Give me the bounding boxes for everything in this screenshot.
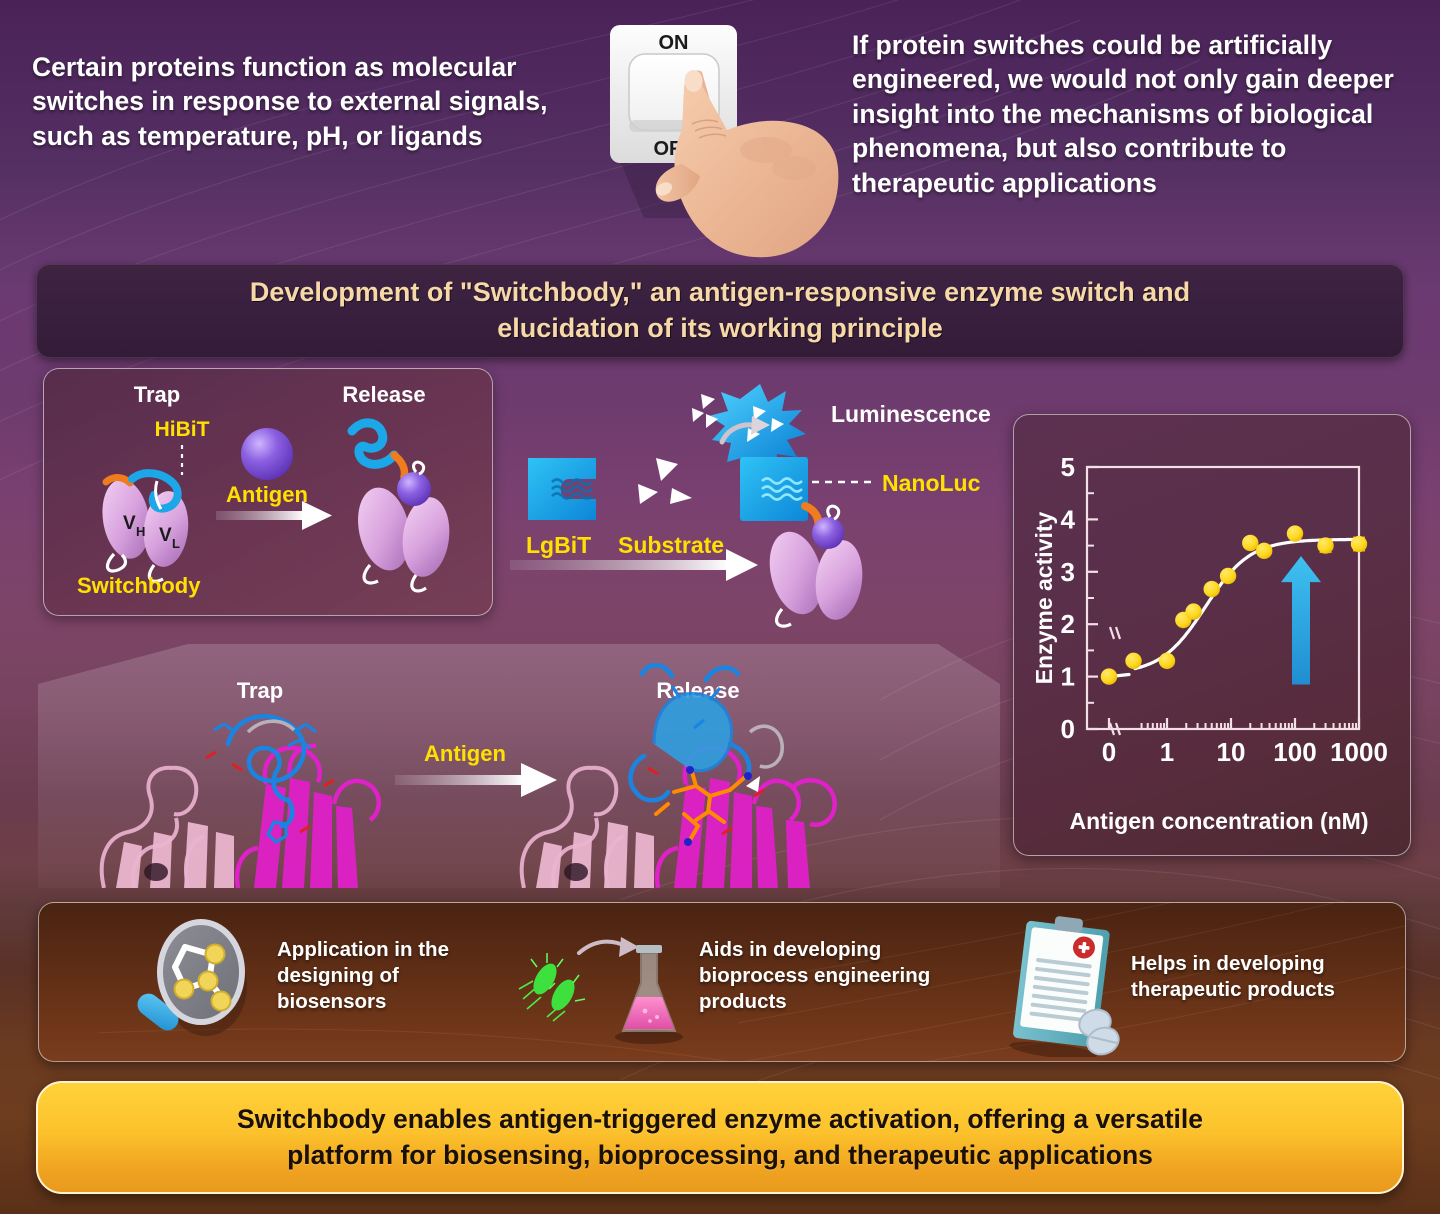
chart-ytick: 1	[1061, 662, 1075, 692]
chart-data-point	[1351, 536, 1367, 552]
mechanism-panel: Trap Release HiBiT V H V L	[43, 368, 493, 616]
chart-xtick: 10	[1217, 737, 1246, 767]
substrate-triangles-icon	[638, 458, 692, 504]
chart-data-point	[1204, 581, 1220, 597]
title-line-1: Development of "Switchbody," an antigen-…	[250, 277, 1190, 307]
svg-text:L: L	[172, 536, 180, 551]
chart-ylabel: Enzyme activity	[1031, 512, 1057, 685]
bacteria-flask-icon	[517, 925, 697, 1045]
luminescence-label: Luminescence	[831, 401, 991, 427]
mech-release-label: Release	[342, 382, 425, 407]
graphical-abstract: Certain proteins function as molecular s…	[0, 0, 1440, 1214]
chart-ytick: 2	[1061, 609, 1075, 639]
chart-ytick: 0	[1061, 714, 1075, 744]
chart-xtick: 0	[1102, 737, 1116, 767]
svg-text:H: H	[136, 524, 145, 539]
lgbit-label: LgBiT	[526, 532, 591, 558]
lgbit-icon	[528, 458, 596, 520]
application-text-2: Helps in developing therapeutic products	[1131, 951, 1381, 1003]
chart-data-point	[1220, 568, 1236, 584]
activation-arrow-icon	[1281, 556, 1321, 684]
mech-switchbody-label: Switchbody	[77, 573, 201, 598]
chart-data-point	[1185, 603, 1201, 619]
chart-data-point	[1317, 537, 1333, 553]
mech-trap-label: Trap	[134, 382, 180, 407]
flask-glyph	[615, 945, 683, 1044]
switchbody-release-cartoon	[351, 423, 454, 591]
structure-antigen-label: Antigen	[424, 741, 506, 766]
chart-data-point	[1256, 543, 1272, 559]
svg-text:V: V	[123, 513, 136, 534]
chart-ytick: 4	[1061, 504, 1076, 534]
chart-data-point	[1125, 653, 1141, 669]
chart-ytick: 3	[1061, 557, 1075, 587]
light-switch-illustration: ON OFF	[598, 18, 848, 258]
mech-antigen-label: Antigen	[226, 482, 308, 507]
intro-text-left: Certain proteins function as molecular s…	[32, 50, 562, 153]
nanoluc-assembly-panel: Luminescence LgBiT	[500, 378, 1020, 630]
clipboard-pills-icon	[991, 911, 1131, 1057]
nanoluc-complex-icon	[740, 457, 867, 626]
protein-structure-panel: Trap Release Antigen	[38, 636, 1018, 888]
chart-xtick: 100	[1273, 737, 1316, 767]
switchbody-trap-cartoon: V H V L	[97, 473, 192, 581]
nanoluc-label: NanoLuc	[882, 470, 981, 496]
switch-on-label: ON	[659, 32, 689, 54]
substrate-particles-icon	[692, 394, 718, 428]
svg-text:V: V	[159, 525, 172, 546]
dose-response-chart-panel: 012345 01101001000 Enzyme activity Antig…	[1013, 414, 1411, 856]
title-line-2: elucidation of its working principle	[497, 313, 943, 343]
bacteria-glyph	[519, 953, 585, 1021]
intro-text-right: If protein switches could be artificiall…	[852, 28, 1404, 200]
title-banner: Development of "Switchbody," an antigen-…	[36, 264, 1404, 358]
antigen-sphere-icon	[241, 428, 293, 480]
conclusion-line-1: Switchbody enables antigen-triggered enz…	[237, 1104, 1203, 1134]
chart-data-point	[1101, 668, 1117, 684]
chart-data-point	[1242, 535, 1258, 551]
mech-hibit-label: HiBiT	[155, 418, 210, 441]
application-text-1: Aids in developing bioprocess engineerin…	[699, 937, 951, 1016]
substrate-label: Substrate	[618, 532, 724, 558]
dose-response-chart: 012345 01101001000 Enzyme activity Antig…	[1014, 415, 1412, 857]
conclusion-line-2: platform for biosensing, bioprocessing, …	[287, 1140, 1153, 1170]
chart-data-point	[1159, 653, 1175, 669]
chart-xtick: 1000	[1330, 737, 1388, 767]
chart-xlabel: Antigen concentration (nM)	[1070, 808, 1369, 834]
chart-xtick: 1	[1160, 737, 1174, 767]
magnifier-molecule-icon	[129, 917, 259, 1051]
applications-bar: Application in the designing of biosenso…	[38, 902, 1406, 1062]
chart-data-point	[1287, 525, 1303, 541]
conclusion-banner: Switchbody enables antigen-triggered enz…	[36, 1081, 1404, 1194]
structure-trap-label: Trap	[237, 678, 283, 703]
chart-ytick: 5	[1061, 452, 1075, 482]
application-text-0: Application in the designing of biosenso…	[277, 937, 499, 1016]
